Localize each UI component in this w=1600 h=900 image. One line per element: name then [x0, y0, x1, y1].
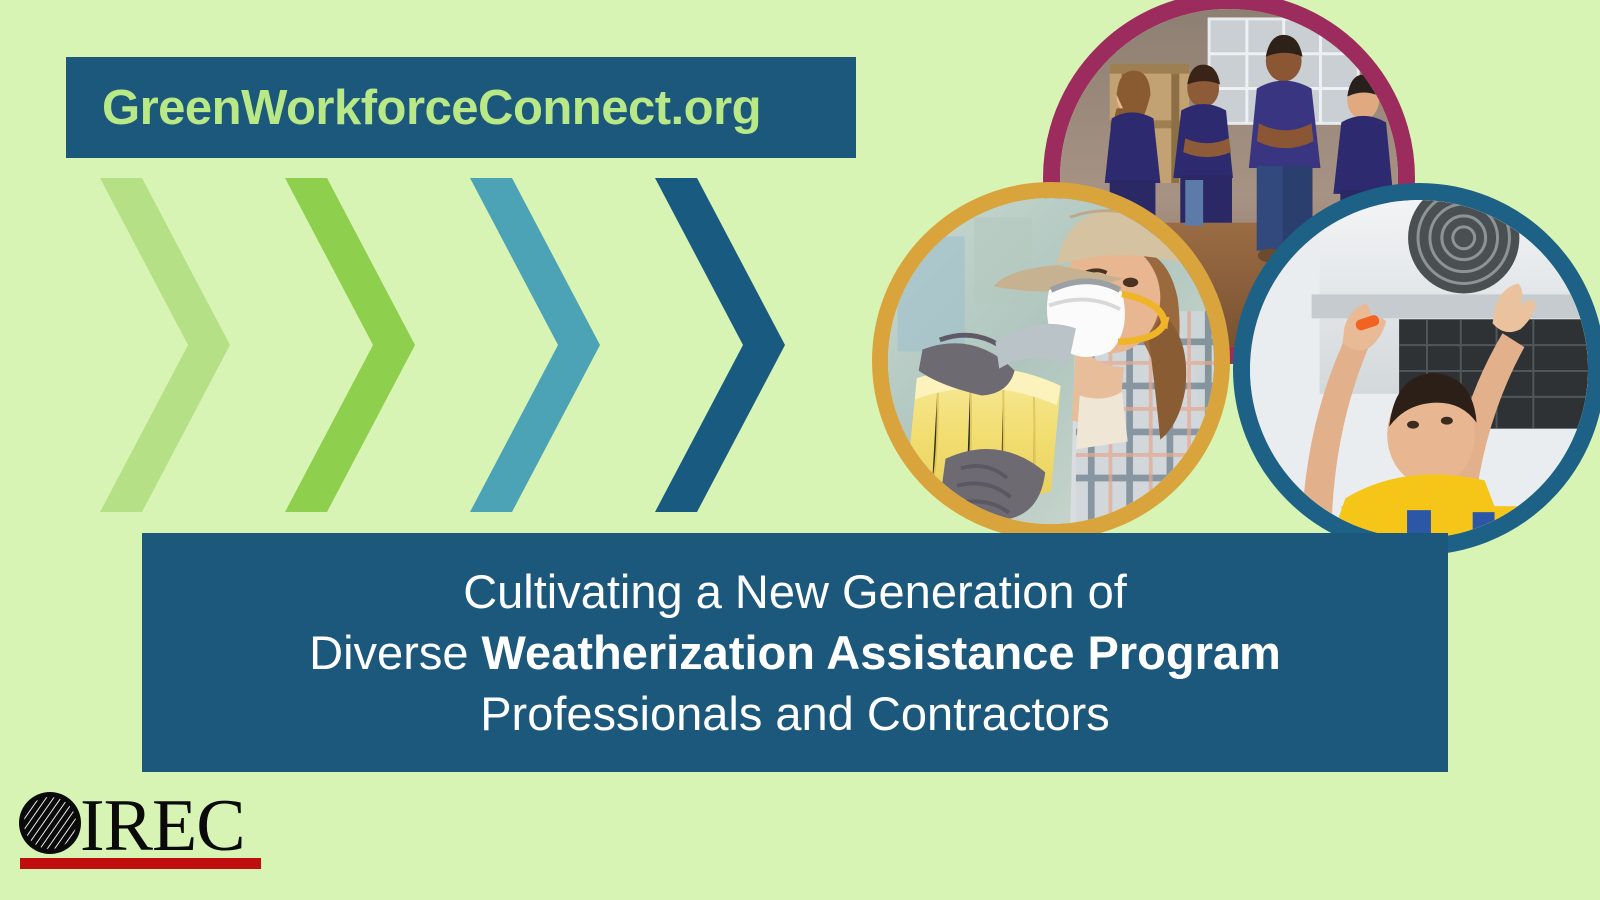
- headline-banner: Cultivating a New Generation of Diverse …: [142, 533, 1448, 772]
- poster-canvas: GreenWorkforceConnect.org: [0, 0, 1600, 900]
- chevron-arrow-group: [80, 170, 880, 520]
- chevron-1-pale-green-icon: [100, 178, 230, 512]
- svg-text:IREC: IREC: [80, 788, 245, 867]
- headline-line-2-emphasis: Weatherization Assistance Program: [482, 626, 1281, 679]
- headline-line-2: Diverse Weatherization Assistance Progra…: [309, 622, 1281, 683]
- photo-hvac-technician: [1233, 183, 1600, 555]
- photo-hvac-image: [1250, 200, 1588, 538]
- chevron-4-navy-icon: [655, 178, 785, 512]
- irec-logo[interactable]: IREC: [16, 788, 281, 878]
- chevron-3-teal-icon: [470, 178, 600, 512]
- headline-line-2-prefix: Diverse: [309, 626, 481, 679]
- irec-underline-bar: [20, 858, 261, 869]
- url-banner: GreenWorkforceConnect.org: [66, 57, 856, 158]
- irec-mark-circle-icon: [19, 792, 81, 854]
- headline-line-3: Professionals and Contractors: [480, 683, 1110, 744]
- photo-insulation-worker: [872, 182, 1230, 540]
- headline-line-1: Cultivating a New Generation of: [463, 561, 1127, 622]
- photo-insulation-image: [888, 198, 1214, 524]
- website-url-text: GreenWorkforceConnect.org: [102, 80, 761, 136]
- chevron-2-green-icon: [285, 178, 415, 512]
